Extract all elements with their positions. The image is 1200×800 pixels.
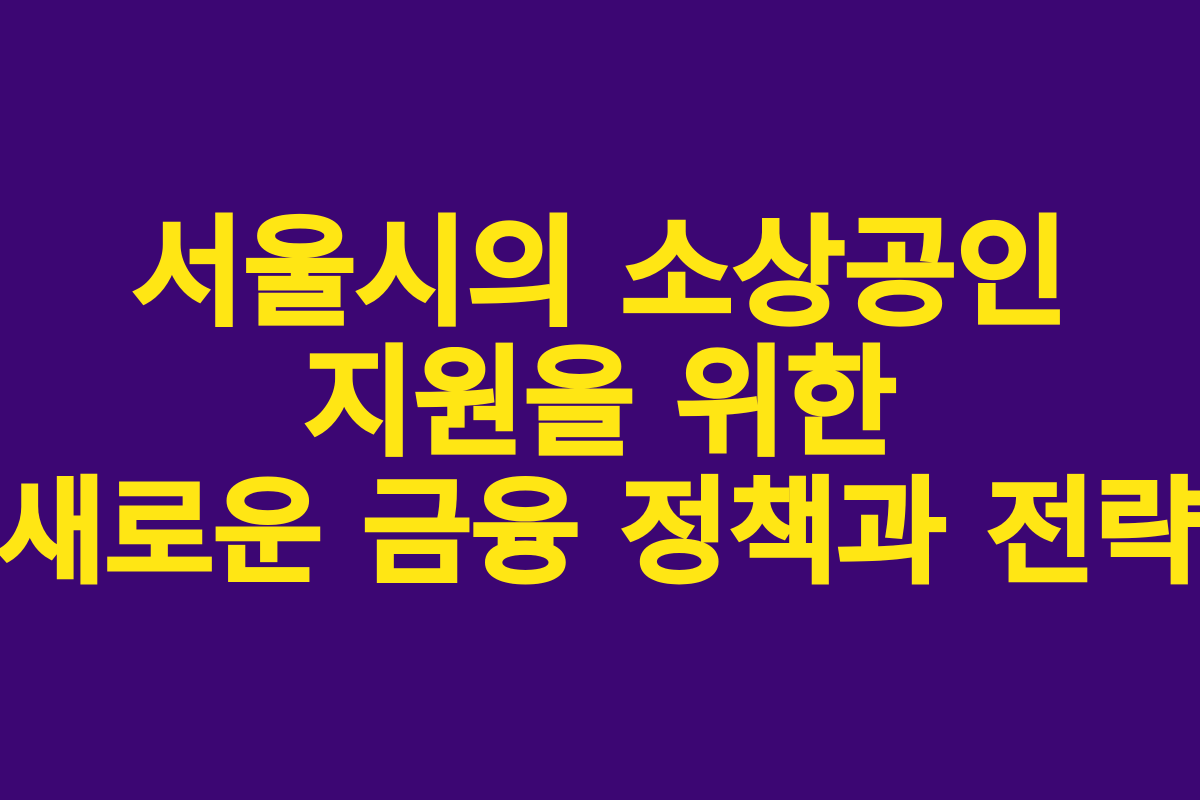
title-card: 서울시의 소상공인 지원을 위한 새로운 금융 정책과 전략 xyxy=(0,0,1200,800)
headline-block: 서울시의 소상공인 지원을 위한 새로운 금융 정책과 전략 xyxy=(0,214,1200,590)
headline-line-3: 새로운 금융 정책과 전략 xyxy=(0,476,1200,590)
headline-line-2: 지원을 위한 xyxy=(0,344,1200,462)
headline-line-1: 서울시의 소상공인 xyxy=(0,214,1200,332)
